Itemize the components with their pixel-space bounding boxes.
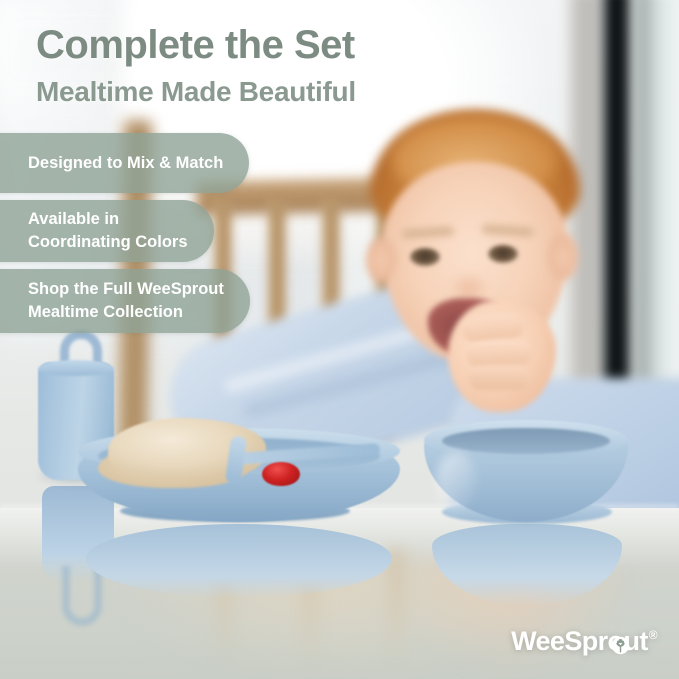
feature-pill-line1: Designed to Mix & Match — [28, 154, 223, 172]
page-subtitle: Mealtime Made Beautiful — [36, 76, 356, 108]
feature-pill-coordinating-colors[interactable]: Available in Coordinating Colors — [0, 200, 214, 262]
feature-pill-line1: Shop the Full WeeSprout — [28, 280, 224, 298]
feature-pill-shop-collection[interactable]: Shop the Full WeeSprout Mealtime Collect… — [0, 269, 250, 333]
bowl-interior — [442, 428, 610, 454]
reflection-cup-strap — [62, 566, 102, 626]
bowl-highlight — [436, 452, 476, 510]
feature-pill-mix-match[interactable]: Designed to Mix & Match — [0, 133, 249, 193]
child-nose — [452, 275, 486, 297]
brand-logo[interactable]: WeeSprout ® — [511, 626, 657, 657]
product-lifestyle-image: Complete the Set Mealtime Made Beautiful… — [0, 0, 679, 679]
child-eye-right — [488, 245, 518, 263]
child-eye-left — [410, 248, 440, 266]
feature-pill-line1: Available in — [28, 210, 119, 228]
sprout-icon — [611, 631, 630, 650]
page-title: Complete the Set — [36, 24, 355, 67]
registered-trademark-symbol: ® — [649, 629, 657, 641]
food-raspberry — [262, 462, 300, 486]
child-finger — [465, 340, 532, 367]
child-subject — [330, 110, 679, 440]
child-finger — [468, 366, 530, 390]
cup-rim — [38, 360, 114, 376]
feature-pill-line2: Mealtime Collection — [28, 303, 183, 321]
child-ear-left — [366, 238, 396, 282]
child-ear-right — [548, 234, 578, 280]
feature-pill-line2: Coordinating Colors — [28, 233, 188, 251]
